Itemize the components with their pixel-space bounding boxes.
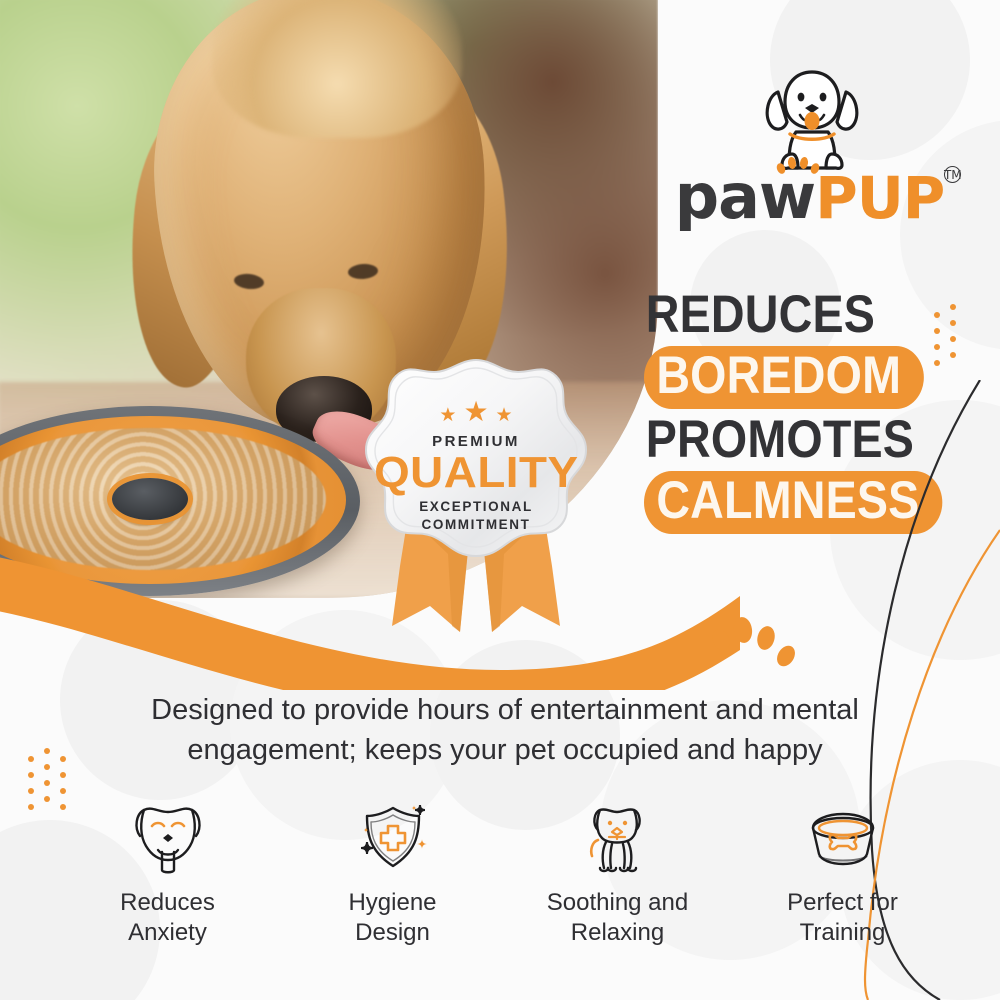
feature-label-line1: Reduces <box>120 888 215 918</box>
brand-wordmark: paw PUP TM <box>668 160 968 232</box>
feature-label: Soothing and Relaxing <box>547 888 688 948</box>
tagline: Designed to provide hours of entertainme… <box>70 690 940 770</box>
pet-bowl-bone-icon <box>799 800 887 878</box>
feature-label-line2: Design <box>348 918 436 948</box>
badge-stars: ★ ★ ★ <box>439 404 512 426</box>
feature-label: Reduces Anxiety <box>120 888 215 948</box>
feature-item-soothing-relaxing: Soothing and Relaxing <box>510 800 725 948</box>
star-icon: ★ <box>496 406 513 425</box>
brand-logo[interactable]: paw PUP TM <box>668 62 968 232</box>
trademark-icon: TM <box>944 166 961 183</box>
tagline-line-2: engagement; keeps your pet occupied and … <box>70 730 940 770</box>
feature-label-line1: Perfect for <box>787 888 898 918</box>
sitting-dog-icon <box>578 800 658 878</box>
product-marketing-banner: ★ ★ ★ PREMIUM QUALITY EXCEPTIONAL COMMIT… <box>0 0 1000 1000</box>
brand-name-orange: PUP <box>815 164 944 232</box>
feature-label-line2: Training <box>787 918 898 948</box>
star-icon: ★ <box>439 406 456 425</box>
badge-quality-label: QUALITY <box>374 451 578 495</box>
star-icon: ★ <box>463 398 488 426</box>
dot-grid-right <box>934 302 974 372</box>
headline-line-1: REDUCES <box>644 286 908 344</box>
feature-label-line2: Anxiety <box>120 918 215 948</box>
feature-label: Hygiene Design <box>348 888 436 948</box>
premium-quality-badge: ★ ★ ★ PREMIUM QUALITY EXCEPTIONAL COMMIT… <box>356 356 596 656</box>
feature-item-perfect-for-training: Perfect for Training <box>735 800 950 948</box>
brand-name-dark: paw <box>675 160 816 233</box>
feature-label: Perfect for Training <box>787 888 898 948</box>
badge-content: ★ ★ ★ PREMIUM QUALITY EXCEPTIONAL COMMIT… <box>356 356 596 581</box>
badge-subtitle-line1: EXCEPTIONAL <box>419 498 533 515</box>
feature-label-line1: Hygiene <box>348 888 436 918</box>
tagline-line-1: Designed to provide hours of entertainme… <box>70 690 940 730</box>
feature-list: Reduces Anxiety <box>60 800 950 948</box>
feature-item-reduces-anxiety: Reduces Anxiety <box>60 800 275 948</box>
shield-cross-icon <box>353 800 433 878</box>
feature-item-hygiene-design: Hygiene Design <box>285 800 500 948</box>
feature-label-line2: Relaxing <box>547 918 688 948</box>
feature-label-line1: Soothing and <box>547 888 688 918</box>
happy-dog-face-icon <box>128 800 208 878</box>
dog-fur <box>212 0 462 138</box>
orange-paw-print-icon <box>712 616 798 672</box>
badge-subtitle-line2: COMMITMENT <box>422 516 531 533</box>
